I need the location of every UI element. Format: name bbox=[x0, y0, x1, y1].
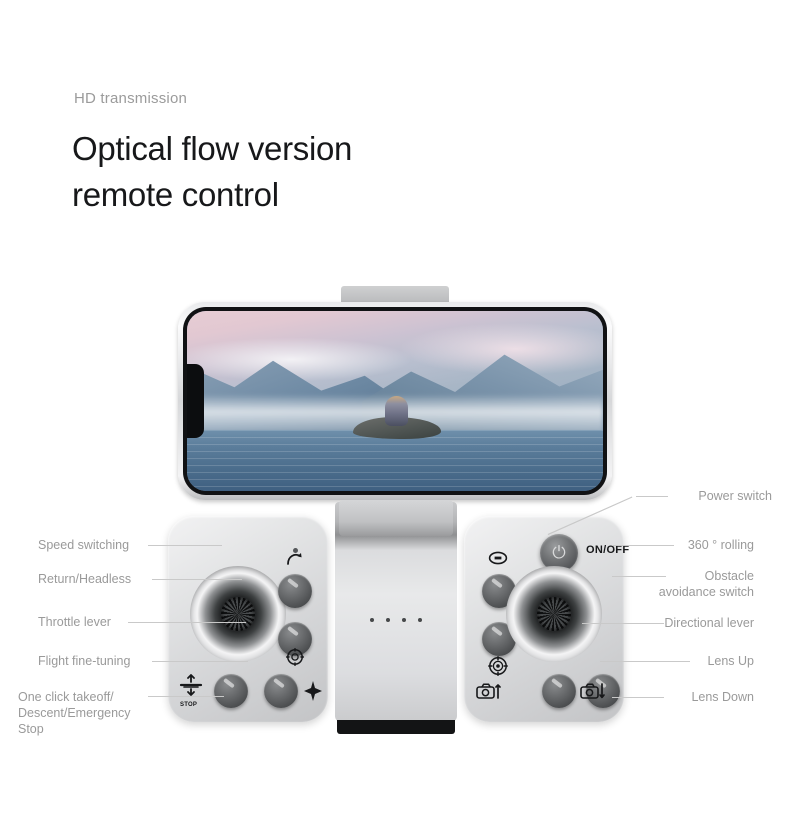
page-title: Optical flow version remote control bbox=[72, 126, 352, 217]
controller-base bbox=[337, 720, 455, 734]
phone-bezel bbox=[183, 307, 607, 495]
remote-controller: STOP ⏻ ON/OFF bbox=[168, 516, 624, 734]
led-indicator-1 bbox=[370, 618, 374, 622]
throttle-lever[interactable] bbox=[190, 566, 286, 662]
callout-obstacle-avoidance: Obstacle avoidance switch bbox=[574, 568, 754, 600]
leader-line-return-headless bbox=[152, 579, 242, 580]
stop-label: STOP bbox=[180, 702, 197, 708]
eyebrow-text: HD transmission bbox=[74, 90, 187, 107]
power-icon: ⏻ bbox=[552, 543, 565, 563]
led-indicator-3 bbox=[402, 618, 406, 622]
leader-line-one-click-takeoff bbox=[148, 696, 224, 697]
lens-up-button[interactable] bbox=[542, 674, 576, 708]
leader-line-lens-down bbox=[612, 697, 664, 698]
flight-fine-tuning-button[interactable] bbox=[264, 674, 298, 708]
phone-screen bbox=[187, 311, 603, 491]
controller-left-grip: STOP bbox=[168, 516, 328, 722]
leader-line-directional-lever bbox=[582, 623, 664, 624]
callout-return-headless: Return/Headless bbox=[38, 571, 131, 587]
leader-line-360-rolling bbox=[612, 545, 674, 546]
callout-speed-switching: Speed switching bbox=[38, 537, 129, 553]
rolling-360-icon bbox=[488, 550, 508, 566]
wallpaper-person bbox=[385, 396, 408, 427]
leader-line-speed-switching bbox=[148, 545, 222, 546]
leader-line-obstacle-avoidance bbox=[612, 576, 666, 577]
leader-line-lens-up bbox=[600, 661, 690, 662]
phone-notch bbox=[187, 364, 204, 438]
one-click-takeoff-button[interactable] bbox=[214, 674, 248, 708]
return-home-icon bbox=[286, 552, 304, 566]
smartphone-mount bbox=[174, 286, 616, 518]
callout-flight-fine-tuning: Flight fine-tuning bbox=[38, 653, 130, 669]
callout-throttle-lever: Throttle lever bbox=[38, 614, 111, 630]
wallpaper-water-reflection bbox=[187, 430, 603, 491]
leader-line-flight-fine-tuning bbox=[152, 661, 248, 662]
speed-switch-icon bbox=[286, 648, 304, 666]
smartphone bbox=[178, 302, 612, 500]
led-indicator-4 bbox=[418, 618, 422, 622]
lens-up-icon bbox=[476, 682, 502, 700]
product-infographic: HD transmission Optical flow version rem… bbox=[0, 0, 790, 820]
phone-clamp-arm bbox=[339, 500, 453, 536]
callout-lens-down: Lens Down bbox=[574, 689, 754, 705]
return-headless-button[interactable] bbox=[278, 574, 312, 608]
leader-line-power-switch bbox=[636, 496, 668, 497]
callout-one-click-takeoff: One click takeoff/ Descent/Emergency Sto… bbox=[18, 689, 131, 737]
obstacle-avoidance-icon bbox=[488, 656, 508, 676]
led-indicators bbox=[370, 618, 422, 622]
led-indicator-2 bbox=[386, 618, 390, 622]
leader-line-throttle-lever bbox=[128, 622, 246, 623]
controller-center-column bbox=[335, 502, 457, 722]
fine-tuning-icon bbox=[302, 680, 324, 702]
